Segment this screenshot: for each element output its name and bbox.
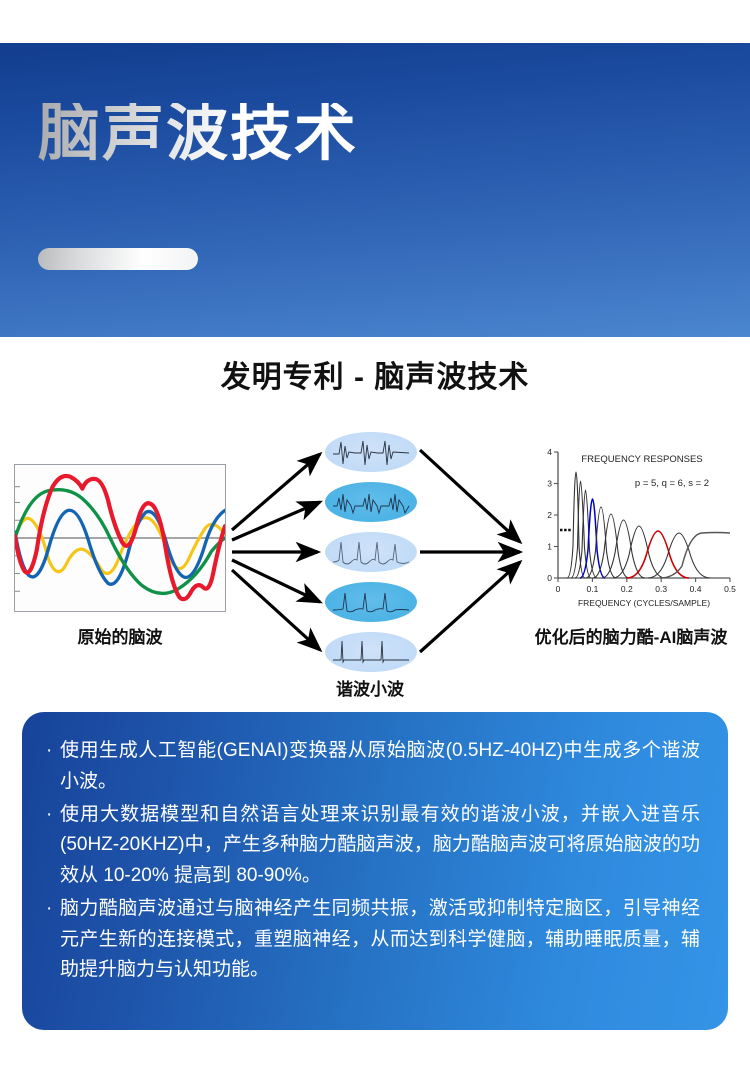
- bullet-text: 脑力酷脑声波通过与脑神经产生同频共振，激活或抑制特定脑区，引导神经元产生新的连接…: [60, 894, 700, 986]
- wavelet-ellipse-1: [325, 432, 417, 472]
- bullet-text: 使用生成人工智能(GENAI)变换器从原始脑波(0.5HZ-40HZ)中生成多个…: [60, 736, 700, 798]
- svg-text:0.5: 0.5: [724, 584, 736, 594]
- original-brainwave-svg: [15, 465, 225, 611]
- original-brainwave-chart: [14, 464, 226, 612]
- wavelet-ellipse-2: [325, 482, 417, 522]
- bullet-marker: ·: [46, 800, 60, 831]
- chart-title: FREQUENCY RESPONSES: [581, 454, 702, 465]
- page-title: 脑声波技术: [38, 103, 358, 165]
- series-harmonic-3-yellow: [15, 518, 225, 574]
- patent-flow-diagram: 原始的脑波: [0, 420, 750, 700]
- svg-text:0: 0: [547, 573, 552, 583]
- fan-out-arrows: [232, 454, 320, 650]
- svg-text:1: 1: [547, 542, 552, 552]
- wavelet-ellipse-5: [325, 632, 417, 672]
- label-harmonic-wavelets: 谐波小波: [280, 675, 460, 700]
- wavelet-signal-4: [325, 582, 417, 622]
- svg-text:0.4: 0.4: [690, 584, 702, 594]
- title-underline-bar: [38, 248, 198, 270]
- bullet-list: · 使用生成人工智能(GENAI)变换器从原始脑波(0.5HZ-40HZ)中生成…: [46, 736, 700, 986]
- list-item: · 使用生成人工智能(GENAI)变换器从原始脑波(0.5HZ-40HZ)中生成…: [46, 736, 700, 798]
- top-white-strip: [0, 0, 750, 43]
- bullet-text: 使用大数据模型和自然语言处理来识别最有效的谐波小波，并嵌入进音乐(50HZ-20…: [60, 800, 700, 892]
- bullet-marker: ·: [46, 894, 60, 925]
- wavelet-ellipse-3: [325, 532, 417, 572]
- label-original-brainwave: 原始的脑波: [14, 623, 226, 648]
- x-axis-tick-labels: 0 0.1 0.2 0.3 0.4 0.5: [556, 584, 737, 594]
- wavelet-ellipse-4: [325, 582, 417, 622]
- bullet-marker: ·: [46, 736, 60, 767]
- svg-text:0.1: 0.1: [586, 584, 598, 594]
- frequency-responses-svg: 4 3 2 1 0 0 0.1 0.2 0.3 0.4 0.5: [524, 438, 738, 618]
- wavelet-signal-5: [325, 632, 417, 672]
- svg-text:2: 2: [547, 510, 552, 520]
- wavelet-signal-1: [325, 432, 417, 472]
- list-item: · 使用大数据模型和自然语言处理来识别最有效的谐波小波，并嵌入进音乐(50HZ-…: [46, 800, 700, 892]
- label-optimized-brainwave: 优化后的脑力酷-AI脑声波: [512, 623, 750, 648]
- chart-annotation: p = 5, q = 6, s = 2: [635, 478, 709, 489]
- y-axis-tick-labels: 4 3 2 1 0: [547, 447, 552, 583]
- x-axis-label: FREQUENCY (CYCLES/SAMPLE): [578, 598, 710, 608]
- feature-bullets-card: · 使用生成人工智能(GENAI)变换器从原始脑波(0.5HZ-40HZ)中生成…: [22, 712, 728, 1030]
- list-item: · 脑力酷脑声波通过与脑神经产生同频共振，激活或抑制特定脑区，引导神经元产生新的…: [46, 894, 700, 986]
- wavelet-signal-2: [325, 482, 417, 522]
- wavelet-signal-3: [325, 532, 417, 572]
- svg-text:4: 4: [547, 447, 552, 457]
- svg-text:0.2: 0.2: [621, 584, 633, 594]
- svg-text:3: 3: [547, 479, 552, 489]
- hero-banner: 脑声波技术: [0, 43, 750, 337]
- fan-in-arrows: [420, 450, 520, 652]
- svg-text:0: 0: [556, 584, 561, 594]
- frequency-responses-chart: 4 3 2 1 0 0 0.1 0.2 0.3 0.4 0.5: [524, 438, 738, 618]
- svg-text:0.3: 0.3: [655, 584, 667, 594]
- section-title: 发明专利 - 脑声波技术: [0, 352, 750, 396]
